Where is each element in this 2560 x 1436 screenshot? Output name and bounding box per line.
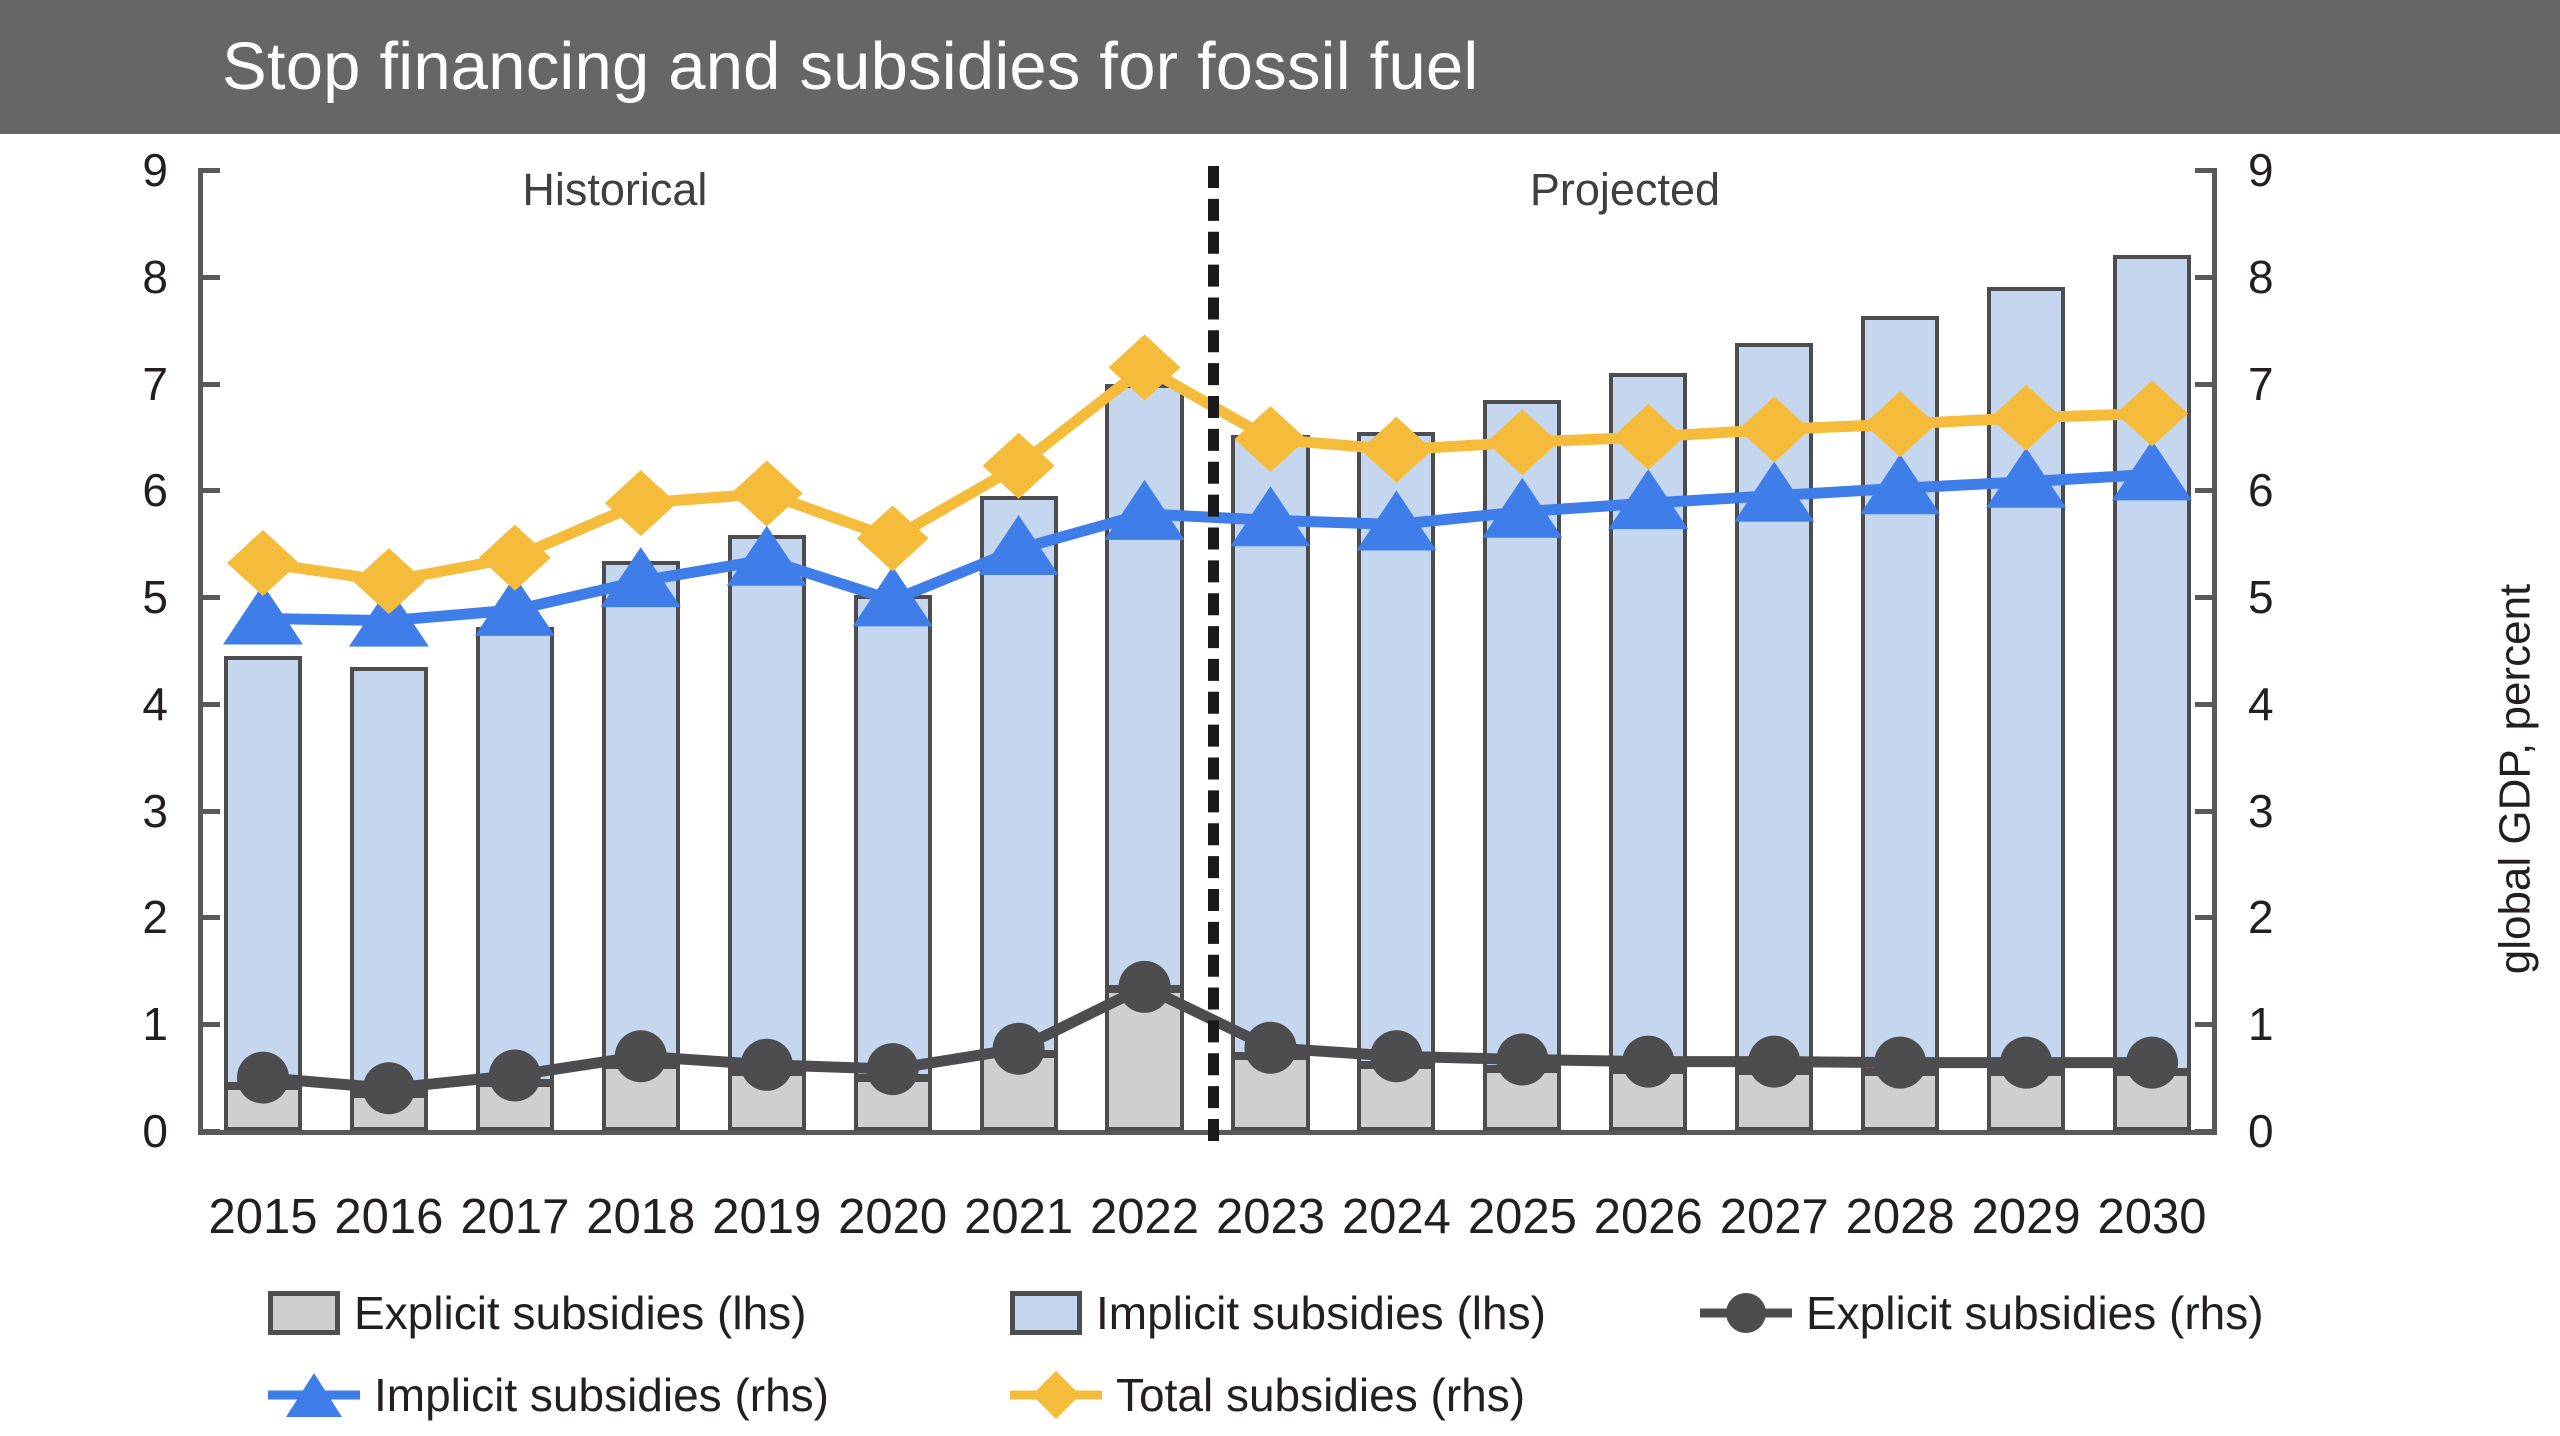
marker-diamond-2015 xyxy=(227,530,299,596)
marker-diamond-2029 xyxy=(1990,385,2062,451)
right-axis-tick-labels: 0123456789 xyxy=(2248,170,2338,1131)
x-tick-label-2030: 2030 xyxy=(2098,1189,2207,1245)
historical-projected-divider xyxy=(1208,166,1219,1141)
marker-circle-2028 xyxy=(1874,1037,1926,1089)
left-tick-label-7: 7 xyxy=(78,361,168,407)
left-tick-label-6: 6 xyxy=(78,467,168,513)
x-tick-label-2019: 2019 xyxy=(712,1189,821,1245)
marker-diamond-2030 xyxy=(2116,380,2188,446)
marker-circle-2024 xyxy=(1370,1030,1422,1082)
marker-triangle-2030 xyxy=(2112,440,2192,500)
legend-label: Explicit subsidies (rhs) xyxy=(1806,1286,2264,1340)
x-tick-label-2020: 2020 xyxy=(838,1189,947,1245)
left-tick-label-0: 0 xyxy=(78,1108,168,1154)
left-tick-label-4: 4 xyxy=(78,681,168,727)
slide-header-bar: Stop financing and subsidies for fossil … xyxy=(0,0,2560,134)
legend-label: Explicit subsidies (lhs) xyxy=(354,1286,806,1340)
marker-circle-2025 xyxy=(1496,1033,1548,1085)
marker-diamond-2020 xyxy=(857,505,929,571)
legend-item-total-subsidies-rhs[interactable]: Total subsidies (rhs) xyxy=(1010,1354,1525,1436)
legend-label: Implicit subsidies (rhs) xyxy=(374,1368,829,1422)
left-tick-label-3: 3 xyxy=(78,788,168,834)
marker-circle-2027 xyxy=(1748,1036,1800,1088)
left-tick-label-8: 8 xyxy=(78,254,168,300)
right-axis-title: global GDP, percent xyxy=(2490,584,2540,975)
annotation-projected: Projected xyxy=(1530,164,1720,216)
right-tick-label-5: 5 xyxy=(2248,574,2338,620)
right-tick-label-4: 4 xyxy=(2248,681,2338,727)
marker-diamond-2025 xyxy=(1486,409,1558,475)
chart-legend: Explicit subsidies (lhs)Implicit subsidi… xyxy=(0,1272,2560,1436)
x-tick-label-2021: 2021 xyxy=(964,1189,1073,1245)
left-axis-tick-labels: 0123456789 xyxy=(78,170,168,1131)
legend-diamond-marker-icon xyxy=(1032,1371,1080,1419)
legend-swatch-line-icon xyxy=(268,1373,360,1417)
marker-diamond-2024 xyxy=(1360,417,1432,483)
right-tick-label-3: 3 xyxy=(2248,788,2338,834)
legend-item-explicit-subsidies-lhs[interactable]: Explicit subsidies (lhs) xyxy=(268,1272,806,1354)
marker-diamond-2026 xyxy=(1612,404,1684,470)
x-tick-label-2026: 2026 xyxy=(1594,1189,1703,1245)
marker-circle-2015 xyxy=(237,1052,289,1104)
legend-label: Total subsidies (rhs) xyxy=(1116,1368,1525,1422)
marker-diamond-2016 xyxy=(353,548,425,614)
marker-circle-2023 xyxy=(1244,1022,1296,1074)
legend-row-1: Explicit subsidies (lhs)Implicit subsidi… xyxy=(0,1272,2560,1354)
left-tick-label-1: 1 xyxy=(78,1001,168,1047)
x-tick-label-2018: 2018 xyxy=(586,1189,695,1245)
marker-circle-2016 xyxy=(363,1062,415,1114)
right-tick-label-9: 9 xyxy=(2248,147,2338,193)
right-tick-label-7: 7 xyxy=(2248,361,2338,407)
x-tick-label-2022: 2022 xyxy=(1090,1189,1199,1245)
marker-circle-2019 xyxy=(741,1039,793,1091)
legend-circle-marker-icon xyxy=(1726,1293,1766,1333)
annotation-historical: Historical xyxy=(522,164,707,216)
legend-label: Implicit subsidies (lhs) xyxy=(1096,1286,1546,1340)
x-tick-label-2017: 2017 xyxy=(460,1189,569,1245)
chart-figure: 0123456789 0123456789 US$ trillion globa… xyxy=(0,134,2560,1436)
marker-diamond-2018 xyxy=(605,470,677,536)
marker-circle-2018 xyxy=(615,1030,667,1082)
legend-triangle-marker-icon xyxy=(286,1373,342,1417)
left-tick-label-5: 5 xyxy=(78,574,168,620)
marker-diamond-2017 xyxy=(479,525,551,591)
x-tick-label-2015: 2015 xyxy=(208,1189,317,1245)
marker-diamond-2019 xyxy=(731,461,803,527)
x-tick-label-2028: 2028 xyxy=(1846,1189,1955,1245)
legend-swatch-line-icon xyxy=(1700,1291,1792,1335)
left-tick-label-9: 9 xyxy=(78,147,168,193)
page-title: Stop financing and subsidies for fossil … xyxy=(222,32,1478,102)
marker-circle-2029 xyxy=(2000,1037,2052,1089)
right-tick-label-6: 6 xyxy=(2248,467,2338,513)
legend-item-implicit-subsidies-lhs[interactable]: Implicit subsidies (lhs) xyxy=(1010,1272,1546,1354)
marker-circle-2020 xyxy=(867,1043,919,1095)
marker-diamond-2028 xyxy=(1864,391,1936,457)
legend-swatch-line-icon xyxy=(1010,1373,1102,1417)
x-tick-label-2023: 2023 xyxy=(1216,1189,1325,1245)
legend-item-explicit-subsidies-rhs[interactable]: Explicit subsidies (rhs) xyxy=(1700,1272,2264,1354)
marker-circle-2017 xyxy=(489,1049,541,1101)
legend-swatch-box-icon xyxy=(1010,1291,1082,1335)
marker-circle-2022 xyxy=(1119,961,1171,1013)
right-tick-label-1: 1 xyxy=(2248,1001,2338,1047)
legend-item-implicit-subsidies-rhs[interactable]: Implicit subsidies (rhs) xyxy=(268,1354,829,1436)
marker-circle-2026 xyxy=(1622,1036,1674,1088)
plot-area: Historical Projected xyxy=(200,170,2215,1131)
right-tick-label-8: 8 xyxy=(2248,254,2338,300)
left-tick-label-2: 2 xyxy=(78,894,168,940)
x-tick-label-2024: 2024 xyxy=(1342,1189,1451,1245)
x-tick-label-2027: 2027 xyxy=(1720,1189,1829,1245)
x-tick-label-2016: 2016 xyxy=(334,1189,443,1245)
marker-circle-2021 xyxy=(993,1023,1045,1075)
right-tick-label-2: 2 xyxy=(2248,894,2338,940)
legend-row-2: Implicit subsidies (rhs)Total subsidies … xyxy=(0,1354,2560,1436)
x-axis-tick-labels: 2015201620172018201920202021202220232024… xyxy=(200,1189,2215,1259)
legend-swatch-box-icon xyxy=(268,1291,340,1335)
marker-triangle-2019 xyxy=(727,526,807,586)
marker-diamond-2027 xyxy=(1738,396,1810,462)
right-tick-label-0: 0 xyxy=(2248,1108,2338,1154)
x-tick-label-2029: 2029 xyxy=(1972,1189,2081,1245)
marker-circle-2030 xyxy=(2126,1037,2178,1089)
marker-diamond-2023 xyxy=(1234,406,1306,472)
x-tick-label-2025: 2025 xyxy=(1468,1189,1577,1245)
